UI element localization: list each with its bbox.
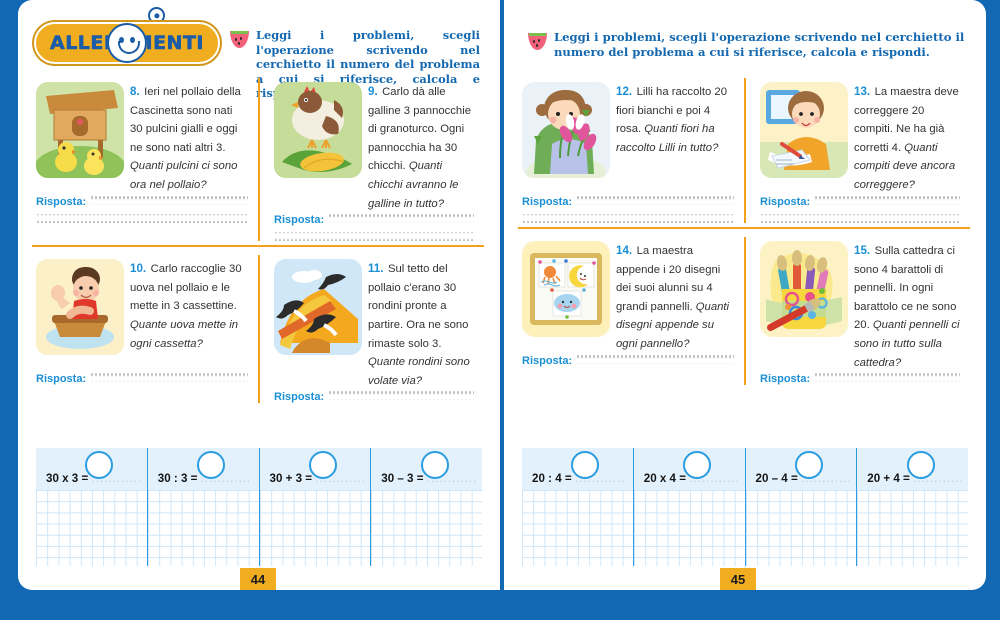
problem-text-block: 13. La maestra deve correggere 20 compit… — [854, 78, 960, 194]
equation-label: 20 : 4 = ............ — [532, 472, 626, 485]
calculation-strip-right: 20 : 4 = ............ 20 x 4 = .........… — [522, 448, 968, 566]
problem-statement: Sul tetto del pollaio c'erano 30 rondini… — [368, 263, 468, 349]
answer-label: Risposta: — [36, 196, 86, 208]
calculation-cell: 30 x 3 = ............ — [36, 448, 148, 566]
answer-label: Risposta: — [522, 196, 572, 208]
teacher-correcting-homework-illustration — [760, 82, 848, 178]
row-divider — [518, 227, 970, 229]
girl-with-flowers-illustration — [522, 82, 610, 178]
answer-label: Risposta: — [36, 373, 86, 385]
calculation-cell: 30 + 3 = ............ — [260, 448, 372, 566]
problem-cell: 14. La maestra appende i 20 disegni dei … — [518, 237, 744, 385]
problem-number: 11. — [368, 262, 383, 275]
problem-cell: 8. Ieri nel pollaio della Cascinetta son… — [32, 78, 258, 241]
equation-label: 30 – 3 = ............ — [381, 472, 477, 485]
squared-paper-area[interactable] — [371, 490, 482, 566]
problem-cell: 9. Carlo dà alle galline 3 pannocchie di… — [258, 78, 484, 241]
answer-row: Risposta: — [36, 373, 248, 385]
problem-number: 14. — [616, 244, 632, 257]
problem-question: Quante uova mette in ogni cassetta? — [130, 319, 238, 350]
page-number-left: 44 — [240, 568, 276, 590]
problem-number: 10. — [130, 262, 146, 275]
answer-input-line[interactable] — [576, 355, 734, 364]
calculation-cell: 20 + 4 = ............ — [857, 448, 968, 566]
answer-row: Risposta: — [760, 373, 960, 385]
equation-label: 30 + 3 = ............ — [270, 472, 366, 485]
problem-row: 8. Ieri nel pollaio della Cascinetta son… — [32, 78, 484, 241]
answer-input-line[interactable] — [522, 214, 734, 223]
answer-input-line[interactable] — [760, 214, 960, 223]
answer-row: Risposta: — [274, 391, 474, 403]
problem-grid-right: 12. Lilli ha raccolto 20 fiori bianchi e… — [518, 78, 970, 385]
answer-input-line[interactable] — [36, 214, 248, 223]
problem-text-block: 12. Lilli ha raccolto 20 fiori bianchi e… — [616, 78, 734, 194]
book-spread: ALLENA MENTI Leggi i problemi, scegli l'… — [0, 0, 1000, 620]
hen-with-corn-cob-illustration — [274, 82, 362, 178]
answer-input-line[interactable] — [328, 391, 474, 400]
answer-input-line[interactable] — [576, 196, 734, 205]
calculation-cell: 20 : 4 = ............ — [522, 448, 634, 566]
problem-cell: 12. Lilli ha raccolto 20 fiori bianchi e… — [518, 78, 744, 223]
answer-row: Risposta: — [522, 355, 734, 367]
problem-question: Quanti pulcini ci sono ora nel pollaio? — [130, 160, 237, 191]
calculation-strip-left: 30 x 3 = ............ 30 : 3 = .........… — [36, 448, 482, 566]
squared-paper-area[interactable] — [746, 490, 857, 566]
answer-label: Risposta: — [522, 355, 572, 367]
watermelon-icon — [528, 33, 547, 50]
problem-cell: 10. Carlo raccoglie 30 uova nel pollaio … — [32, 255, 258, 403]
calculation-cell: 20 x 4 = ............ — [634, 448, 746, 566]
answer-input-line[interactable] — [328, 214, 474, 223]
problem-grid-left: 8. Ieri nel pollaio della Cascinetta son… — [32, 78, 484, 403]
problem-number: 13. — [854, 85, 870, 98]
answer-label: Risposta: — [274, 214, 324, 226]
answer-input-line[interactable] — [90, 373, 248, 382]
problem-cell: 15. Sulla cattedra ci sono 4 barattoli d… — [744, 237, 970, 385]
page-number-right: 45 — [720, 568, 756, 590]
problem-row: 14. La maestra appende i 20 disegni dei … — [518, 237, 970, 385]
problem-statement: Carlo raccoglie 30 uova nel pollaio e le… — [130, 263, 242, 312]
henhouse-with-chicks-illustration — [36, 82, 124, 178]
equation-label: 20 – 4 = ............ — [756, 472, 852, 485]
answer-label: Risposta: — [760, 196, 810, 208]
page-left: ALLENA MENTI Leggi i problemi, scegli l'… — [18, 0, 500, 590]
squared-paper-area[interactable] — [634, 490, 745, 566]
answer-input-line[interactable] — [274, 232, 474, 241]
swallows-on-roof-illustration — [274, 259, 362, 355]
problem-number: 15. — [854, 244, 870, 257]
equation-label: 30 : 3 = ............ — [158, 472, 252, 485]
answer-row: Risposta: — [274, 214, 474, 226]
problem-number: 9. — [368, 85, 378, 98]
problem-text-block: 11. Sul tetto del pollaio c'erano 30 ron… — [368, 255, 474, 389]
answer-input-line[interactable] — [90, 196, 248, 205]
squared-paper-area[interactable] — [148, 490, 259, 566]
equation-label: 30 x 3 = ............ — [46, 472, 142, 485]
instruction-banner-right: Leggi i problemi, scegli l'operazione sc… — [528, 30, 968, 60]
problem-number: 8. — [130, 85, 140, 98]
problem-cell: 13. La maestra deve correggere 20 compit… — [744, 78, 970, 223]
instruction-text: Leggi i problemi, scegli l'operazione sc… — [554, 30, 968, 60]
answer-row: Risposta: — [760, 196, 960, 208]
row-divider — [32, 245, 484, 247]
boy-carrying-egg-crate-illustration — [36, 259, 124, 355]
equation-label: 20 x 4 = ............ — [644, 472, 740, 485]
equation-label: 20 + 4 = ............ — [867, 472, 963, 485]
smiley-face-icon — [107, 23, 147, 63]
problem-row: 12. Lilli ha raccolto 20 fiori bianchi e… — [518, 78, 970, 223]
jar-of-paintbrushes-illustration — [760, 241, 848, 337]
answer-input-line[interactable] — [814, 196, 960, 205]
problem-text-block: 8. Ieri nel pollaio della Cascinetta son… — [130, 78, 248, 194]
squared-paper-area[interactable] — [260, 490, 371, 566]
problem-question: Quante rondini sono volate via? — [368, 356, 470, 387]
calculation-cell: 30 : 3 = ............ — [148, 448, 260, 566]
answer-row: Risposta: — [522, 196, 734, 208]
problem-number: 12. — [616, 85, 632, 98]
problem-text-block: 9. Carlo dà alle galline 3 pannocchie di… — [368, 78, 474, 212]
answer-row: Risposta: — [36, 196, 248, 208]
calculation-cell: 30 – 3 = ............ — [371, 448, 482, 566]
bulletin-board-with-drawings-illustration — [522, 241, 610, 337]
answer-label: Risposta: — [274, 391, 324, 403]
calculation-cell: 20 – 4 = ............ — [746, 448, 858, 566]
problem-text-block: 15. Sulla cattedra ci sono 4 barattoli d… — [854, 237, 960, 371]
answer-input-line[interactable] — [814, 373, 960, 382]
problem-text-block: 10. Carlo raccoglie 30 uova nel pollaio … — [130, 255, 248, 371]
problem-row: 10. Carlo raccoglie 30 uova nel pollaio … — [32, 255, 484, 403]
squared-paper-area[interactable] — [522, 490, 633, 566]
problem-text-block: 14. La maestra appende i 20 disegni dei … — [616, 237, 734, 353]
problem-cell: 11. Sul tetto del pollaio c'erano 30 ron… — [258, 255, 484, 403]
squared-paper-area[interactable] — [857, 490, 968, 566]
problem-statement: Ieri nel pollaio della Cascinetta sono n… — [130, 86, 241, 154]
watermelon-icon — [230, 31, 249, 48]
squared-paper-area[interactable] — [36, 490, 147, 566]
page-right: Leggi i problemi, scegli l'operazione sc… — [504, 0, 986, 590]
logo-pill: ALLENA MENTI — [34, 22, 220, 64]
answer-label: Risposta: — [760, 373, 810, 385]
brand-logo: ALLENA MENTI — [26, 6, 226, 68]
